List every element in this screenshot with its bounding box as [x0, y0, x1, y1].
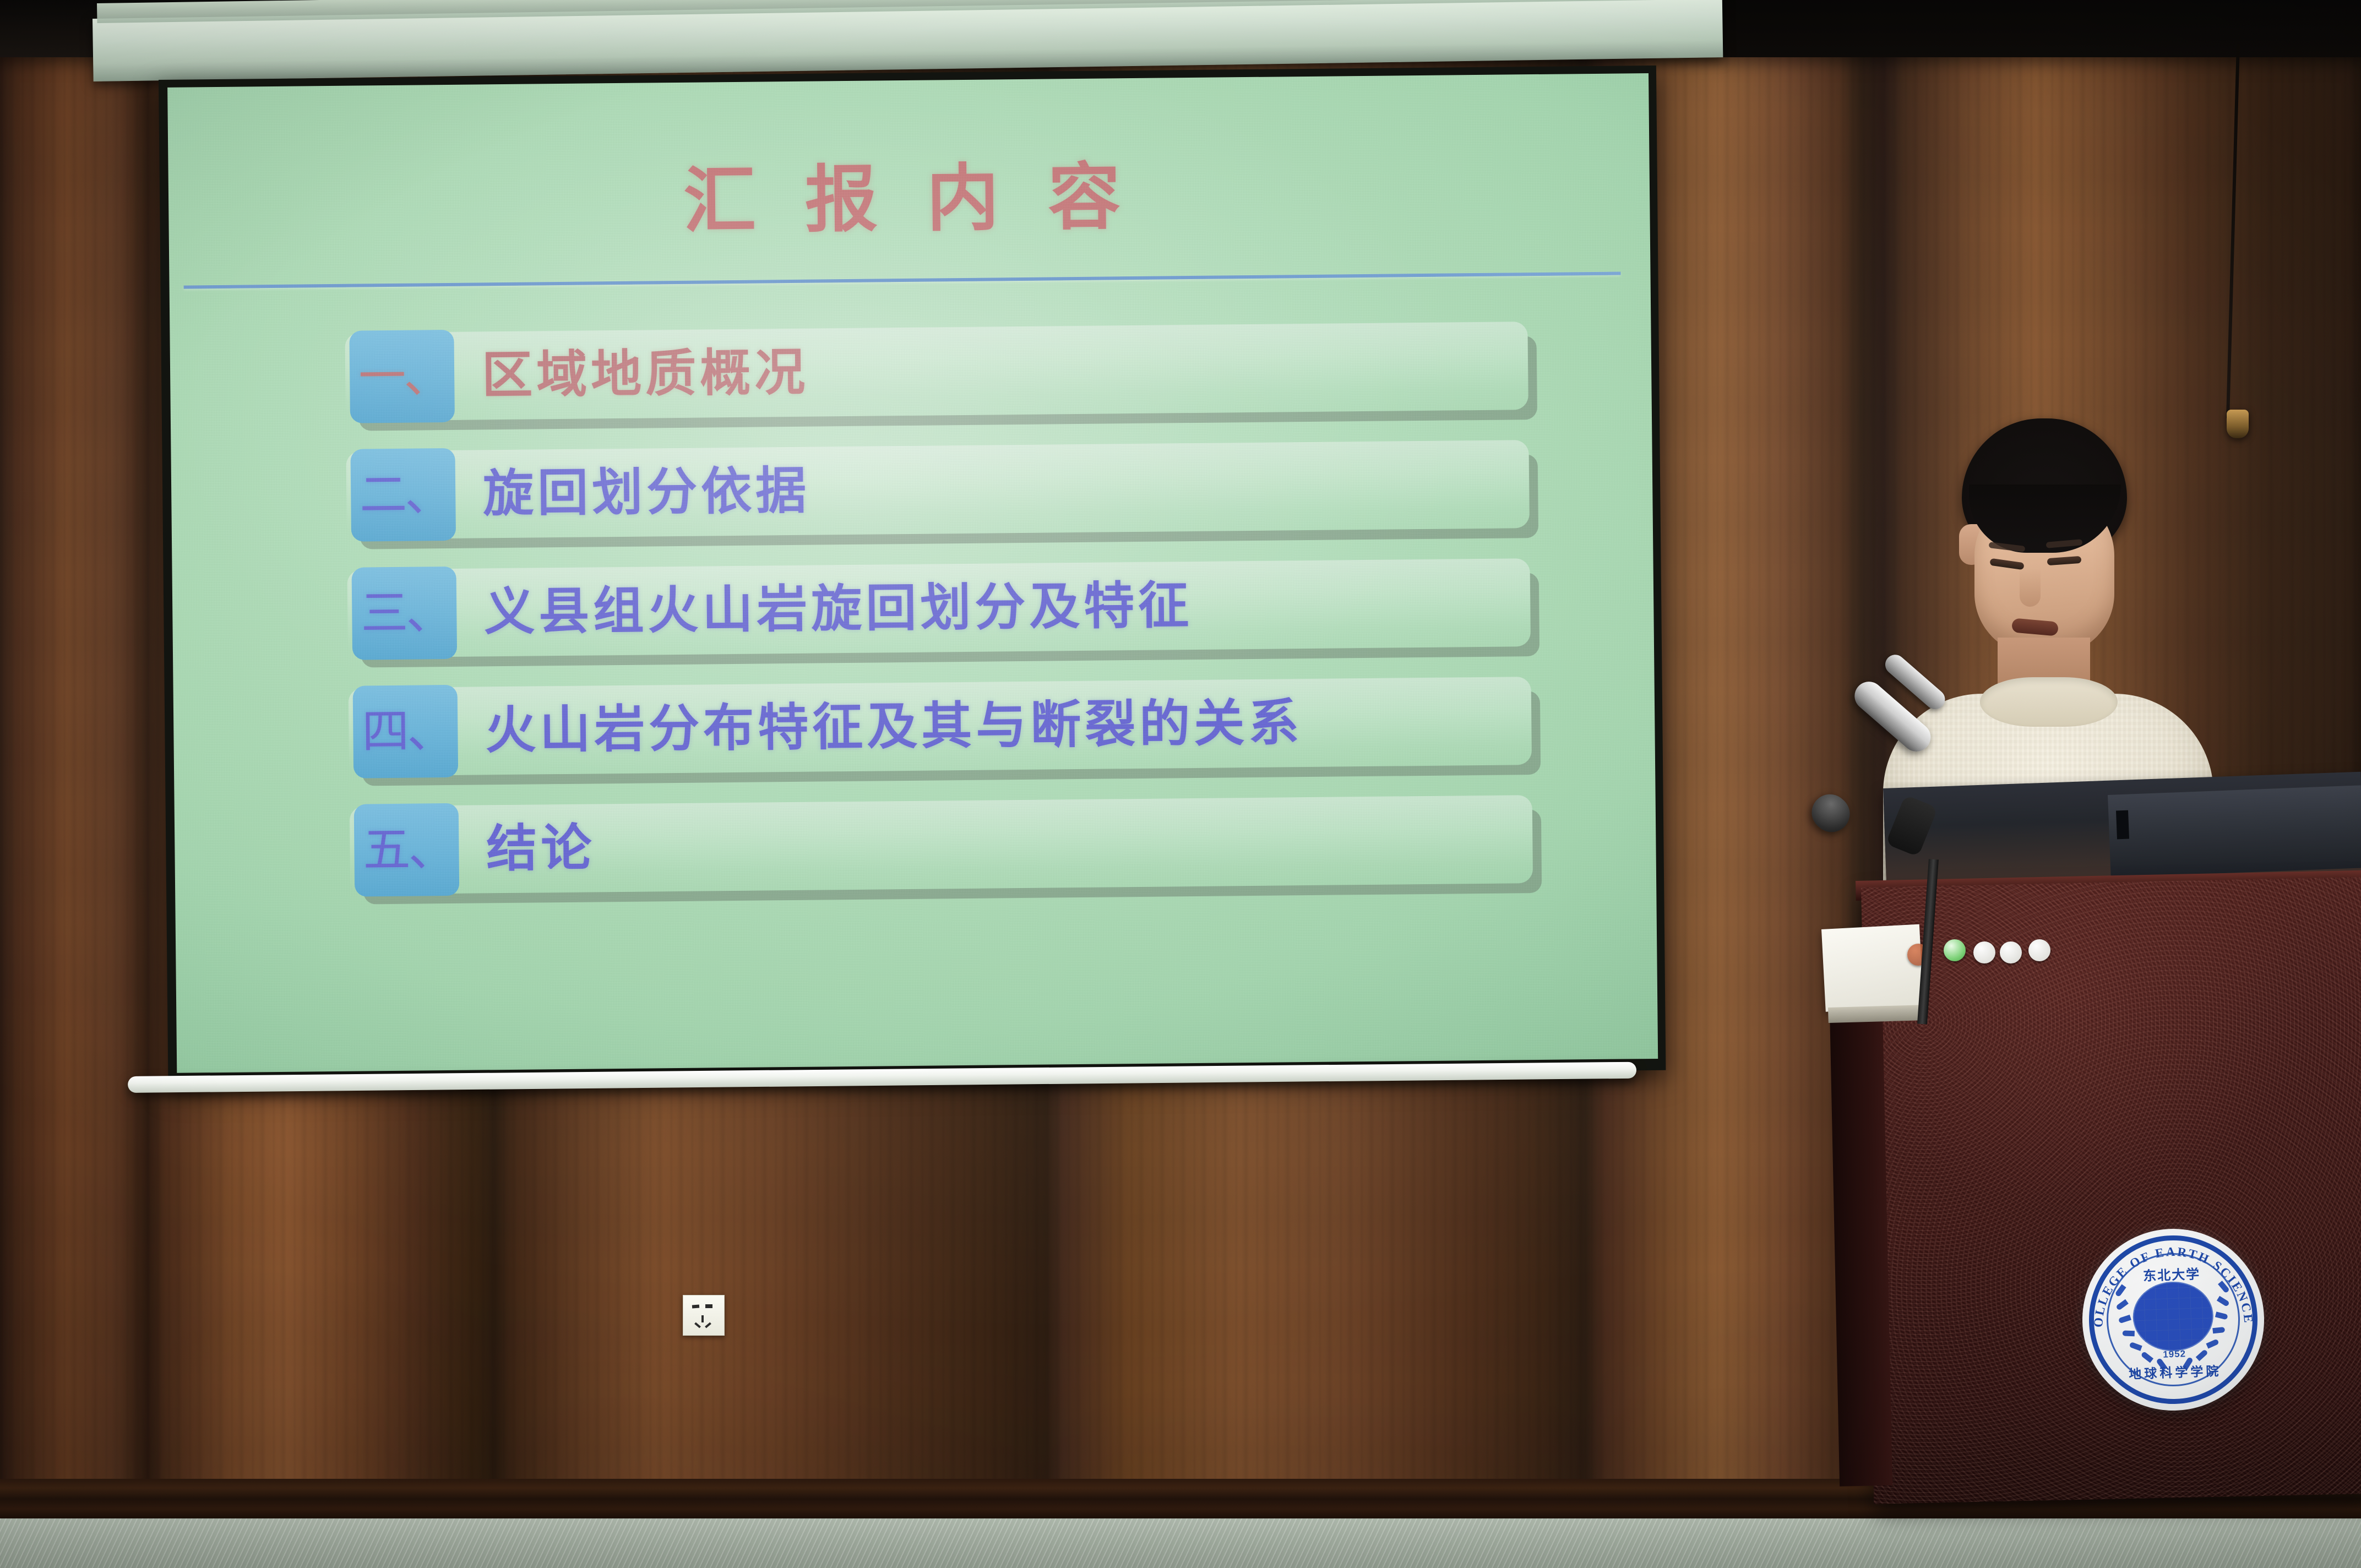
- agenda-item-label: 区域地质概况: [481, 326, 809, 422]
- agenda-item-number-badge: 四、: [353, 685, 459, 778]
- wall-socket[interactable]: [683, 1295, 725, 1336]
- socket-slot-icon: [694, 1322, 701, 1329]
- projection-screen-surface: 汇 报 内 容 一、 区域地质概况 二、 旋回划分依据: [167, 73, 1658, 1073]
- agenda-item-1[interactable]: 一、 区域地质概况: [345, 319, 1574, 431]
- socket-slot-icon: [705, 1322, 711, 1329]
- title-divider-rule: [184, 272, 1621, 289]
- projection-screen-frame: 汇 报 内 容 一、 区域地质概况 二、 旋回划分依据: [159, 66, 1666, 1085]
- agenda-item-5[interactable]: 五、 结论: [350, 792, 1579, 904]
- agenda-item-number-badge: 二、: [350, 448, 456, 542]
- podium-paper-sheet[interactable]: [1821, 924, 1924, 1012]
- speaker-collar: [1980, 677, 2118, 727]
- agenda-item-4[interactable]: 四、 火山岩分布特征及其与断裂的关系: [349, 674, 1577, 786]
- laptop[interactable]: [2108, 785, 2361, 878]
- agenda-item-label: 火山岩分布特征及其与断裂的关系: [485, 677, 1304, 777]
- podium-shelf: [1828, 1005, 1928, 1023]
- college-emblem: COLLEGE OF EARTH SCIENCES 东北大学 1952 地球科学…: [2079, 1226, 2267, 1413]
- podium-white-button[interactable]: [2028, 939, 2050, 961]
- socket-slot-icon: [692, 1305, 699, 1309]
- floor-terrazzo-texture: [0, 1518, 2361, 1568]
- laptop-hinge-icon: [2116, 810, 2129, 840]
- socket-slot-icon: [705, 1304, 712, 1308]
- agenda-item-label: 旋回划分依据: [482, 445, 810, 541]
- agenda-list: 一、 区域地质概况 二、 旋回划分依据 三、 义县组火山岩旋回划分及特征: [345, 319, 1578, 922]
- agenda-item-number-badge: 三、: [352, 567, 458, 660]
- agenda-item-number-badge: 一、: [349, 330, 455, 423]
- agenda-item-label: 义县组火山岩旋回划分及特征: [484, 559, 1194, 658]
- socket-slot-icon: [701, 1315, 704, 1322]
- agenda-item-label: 结论: [486, 802, 596, 895]
- podium-green-button[interactable]: [1944, 939, 1966, 961]
- speaker-nose: [2020, 568, 2041, 607]
- podium-white-button[interactable]: [2000, 941, 2022, 963]
- podium-white-button[interactable]: [1973, 941, 1995, 963]
- lecture-hall-scene: 汇 报 内 容 一、 区域地质概况 二、 旋回划分依据: [0, 0, 2361, 1568]
- floor: [0, 1518, 2361, 1568]
- agenda-item-3[interactable]: 三、 义县组火山岩旋回划分及特征: [347, 556, 1576, 667]
- agenda-item-number-badge: 五、: [354, 803, 460, 897]
- agenda-item-2[interactable]: 二、 旋回划分依据: [346, 437, 1575, 549]
- presentation-slide: 汇 报 内 容 一、 区域地质概况 二、 旋回划分依据: [167, 73, 1658, 1073]
- slide-title: 汇 报 内 容: [168, 156, 1650, 243]
